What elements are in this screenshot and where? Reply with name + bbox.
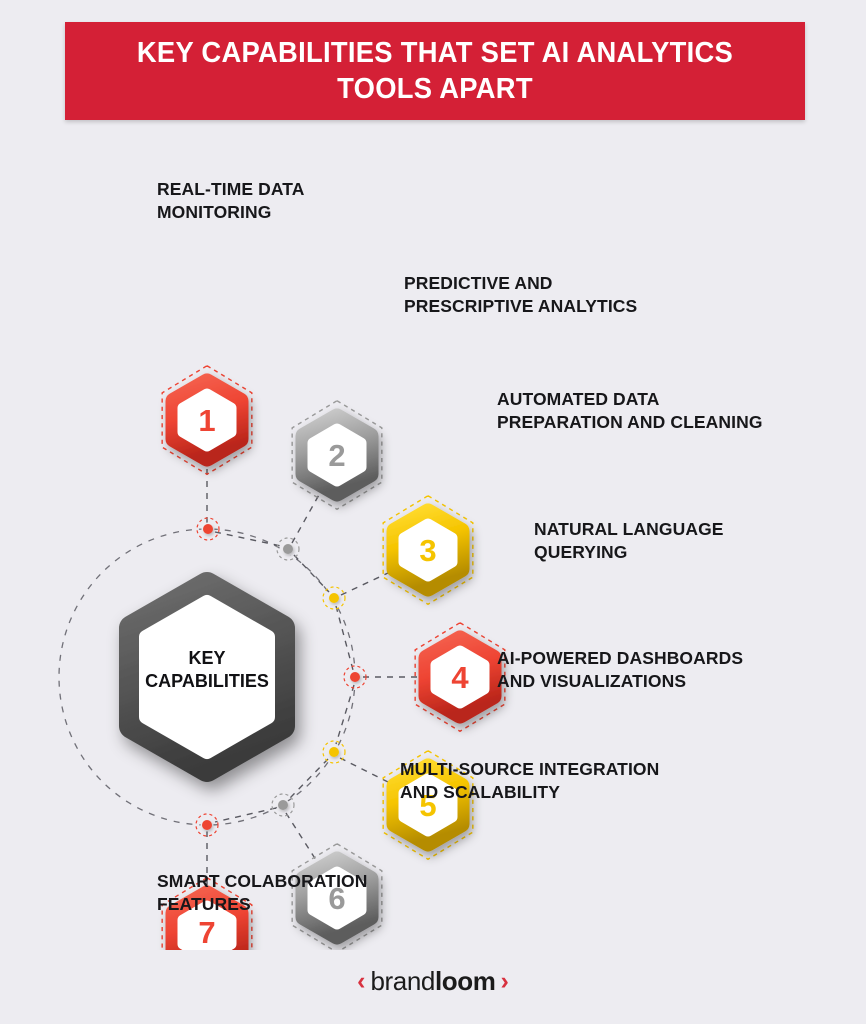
- connector-chain-f: [215, 808, 276, 822]
- node-hexagon-4[interactable]: 4: [415, 623, 505, 732]
- connector-chain-e: [290, 759, 328, 798]
- orbit-dot-3[interactable]: [323, 587, 345, 609]
- left-chevron-icon: ‹: [357, 969, 365, 994]
- footer-logo[interactable]: ‹ brandloom ›: [0, 968, 866, 994]
- connector-chain-a: [215, 532, 281, 546]
- orbit-dot-6[interactable]: [272, 794, 294, 816]
- center-hexagon[interactable]: KEY CAPABILITIES: [132, 585, 282, 769]
- brand-logo-text: brandloom: [370, 968, 495, 994]
- node-3-number: 3: [419, 533, 436, 568]
- capabilities-diagram: KEY CAPABILITIES: [0, 130, 866, 950]
- node-4-number: 4: [451, 660, 469, 695]
- orbit-dot-4[interactable]: [344, 666, 366, 688]
- node-label-4: NATURAL LANGUAGE QUERYING: [534, 518, 804, 564]
- node-label-2: PREDICTIVE AND PRESCRIPTIVE ANALYTICS: [404, 272, 694, 318]
- logo-brand-part: brand: [370, 966, 435, 996]
- node-2-number: 2: [328, 438, 345, 473]
- orbit-dot-5[interactable]: [323, 741, 345, 763]
- node-label-3: AUTOMATED DATA PREPARATION AND CLEANING: [497, 388, 817, 434]
- node-label-1: REAL-TIME DATA MONITORING: [157, 178, 387, 224]
- orbit-dot-2[interactable]: [277, 538, 299, 560]
- center-label-line2: CAPABILITIES: [145, 671, 269, 691]
- connector-chain-c: [336, 606, 353, 670]
- node-label-6: MULTI-SOURCE INTEGRATION AND SCALABILITY: [400, 758, 730, 804]
- infographic-page: KEY CAPABILITIES THAT SET AI ANALYTICS T…: [0, 0, 866, 1024]
- node-hexagon-2[interactable]: 2: [292, 401, 382, 510]
- right-chevron-icon: ›: [501, 969, 509, 994]
- logo-loom-part: loom: [435, 966, 496, 996]
- node-hexagon-3[interactable]: 3: [383, 496, 473, 605]
- node-label-7: SMART COLABORATION FEATURES: [157, 870, 447, 916]
- node-7-number: 7: [198, 915, 215, 950]
- node-1-number: 1: [198, 403, 215, 438]
- center-label-line1: KEY: [188, 648, 225, 668]
- page-title: KEY CAPABILITIES THAT SET AI ANALYTICS T…: [80, 35, 790, 107]
- node-label-5: AI-POWERED DASHBOARDS AND VISUALIZATIONS: [497, 647, 807, 693]
- header-banner: KEY CAPABILITIES THAT SET AI ANALYTICS T…: [65, 22, 805, 120]
- node-hexagon-1[interactable]: 1: [162, 366, 252, 475]
- connector-chain-d: [336, 685, 354, 744]
